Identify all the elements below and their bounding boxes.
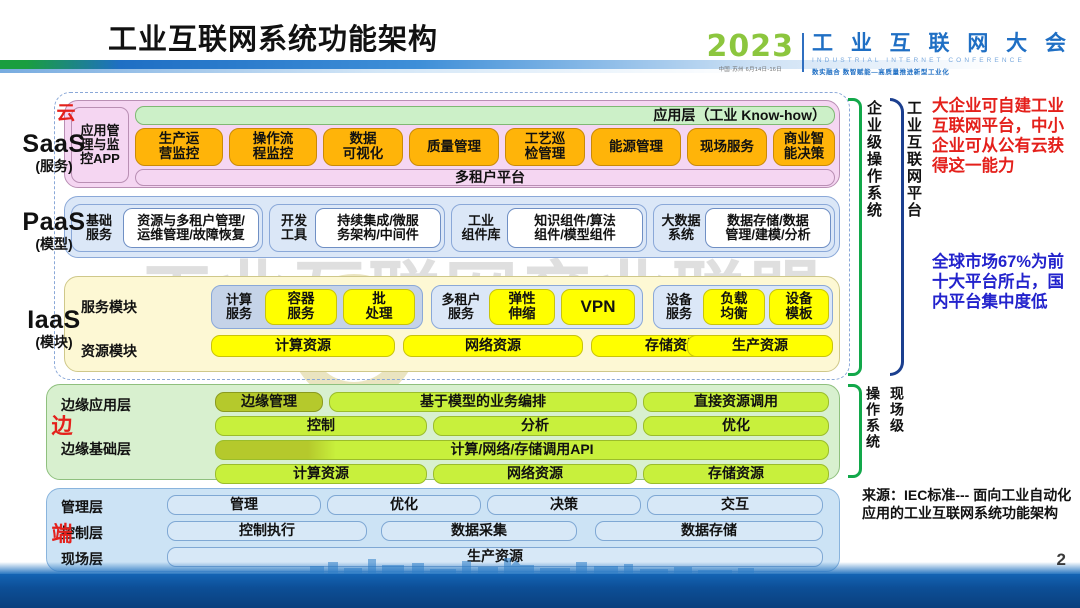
saas-app-0[interactable]: 生产运 营监控 bbox=[135, 128, 223, 166]
edge-app-2[interactable]: 直接资源调用 bbox=[643, 392, 829, 412]
left-label-iaas: IaaS bbox=[14, 306, 94, 335]
iaas-group-0-tag: 计算 服务 bbox=[215, 289, 263, 325]
left-label-paas-sub: (模型) bbox=[14, 234, 94, 254]
logo-divider bbox=[802, 33, 804, 72]
left-label-cloud: 云 bbox=[40, 98, 92, 125]
note-blue: 全球市场67%为前十大平台所占，国内平台集中度低 bbox=[932, 252, 1072, 312]
bracket-label-enterprise-os: 企业级操作系统 bbox=[866, 100, 881, 372]
left-label-paas: PaaS bbox=[14, 208, 94, 237]
header-rule-secondary bbox=[0, 69, 760, 73]
logo-year-subtitle: 中国·苏州 6月14日-16日 bbox=[706, 65, 794, 73]
paas-group-3-tag: 大数据 系统 bbox=[657, 208, 705, 248]
saas-app-4[interactable]: 工艺巡 检管理 bbox=[505, 128, 585, 166]
iiot-platform-bracket bbox=[890, 98, 904, 376]
bracket-label-field-os-2: 现场级 bbox=[890, 386, 904, 476]
edge-res-0[interactable]: 计算资源 bbox=[215, 464, 427, 484]
paas-group-3-body[interactable]: 数据存储/数据 管理/建模/分析 bbox=[705, 208, 831, 248]
note-source: 来源：IEC标准--- 面向工业自动化应用的工业互联网系统功能架构 bbox=[862, 486, 1076, 522]
saas-app-1[interactable]: 操作流 程监控 bbox=[229, 128, 317, 166]
end-row-0-item-3[interactable]: 交互 bbox=[647, 495, 823, 515]
iaas-group-1-chip-1[interactable]: VPN bbox=[561, 289, 635, 325]
end-row-0-item-1[interactable]: 优化 bbox=[327, 495, 481, 515]
bracket-label-iiot-platform: 工业互联网平台 bbox=[906, 100, 921, 372]
left-label-saas: SaaS bbox=[14, 130, 94, 159]
field-os-bracket bbox=[848, 384, 862, 478]
iaas-group-0-chip-0[interactable]: 容器 服务 bbox=[265, 289, 337, 325]
edge-base-row-label: 边缘基础层 bbox=[61, 439, 131, 459]
end-row-1-item-1[interactable]: 数据采集 bbox=[381, 521, 577, 541]
edge-res-2[interactable]: 存储资源 bbox=[643, 464, 829, 484]
iaas-group-2-chip-1[interactable]: 设备 模板 bbox=[769, 289, 829, 325]
edge-mid-2[interactable]: 优化 bbox=[643, 416, 829, 436]
paas-group-1-tag: 开发 工具 bbox=[273, 208, 315, 248]
saas-app-2[interactable]: 数据 可视化 bbox=[323, 128, 403, 166]
saas-app-3[interactable]: 质量管理 bbox=[409, 128, 499, 166]
saas-app-layer-bar: 应用层（工业 Know-how） bbox=[135, 106, 835, 125]
end-row-0-label: 管理层 bbox=[61, 497, 103, 517]
iaas-band: 服务模块 资源模块 计算 服务 容器 服务 批 处理 多租户 服务 弹性 伸缩 … bbox=[64, 276, 840, 372]
footer-band bbox=[0, 574, 1080, 608]
iaas-group-2-tag: 设备 服务 bbox=[657, 289, 701, 325]
logo-chinese-name: 工 业 互 联 网 大 会 bbox=[812, 33, 1072, 55]
iaas-resource-0[interactable]: 计算资源 bbox=[211, 335, 395, 357]
edge-mid-1[interactable]: 分析 bbox=[433, 416, 637, 436]
iaas-group-1-tag: 多租户 服务 bbox=[435, 289, 487, 325]
logo-tagline: 数实融合 数智赋能—高质量推进新型工业化 bbox=[812, 66, 1072, 76]
edge-app-1[interactable]: 基于模型的业务编排 bbox=[329, 392, 637, 412]
paas-group-2-tag: 工业 组件库 bbox=[455, 208, 507, 248]
end-row-0-item-2[interactable]: 决策 bbox=[487, 495, 641, 515]
left-label-iaas-sub: (模块) bbox=[14, 332, 94, 352]
paas-group-2-body[interactable]: 知识组件/算法 组件/模型组件 bbox=[507, 208, 643, 248]
iaas-group-1-chip-0[interactable]: 弹性 伸缩 bbox=[489, 289, 555, 325]
left-label-saas-sub: (服务) bbox=[14, 156, 94, 176]
bracket-label-field-os-1: 操作系统 bbox=[866, 386, 880, 476]
conference-logo: 2023 中国·苏州 6月14日-16日 工 业 互 联 网 大 会 INDUS… bbox=[706, 32, 1072, 76]
edge-api-bar[interactable]: 计算/网络/存储调用API bbox=[215, 440, 829, 460]
end-row-1-item-0[interactable]: 控制执行 bbox=[167, 521, 367, 541]
page-header: 工业互联网系统功能架构 2023 中国·苏州 6月14日-16日 工 业 互 联… bbox=[0, 0, 1080, 86]
page-footer bbox=[0, 562, 1080, 608]
page-title: 工业互联网系统功能架构 bbox=[108, 16, 438, 58]
left-label-edge: 边 bbox=[36, 410, 88, 440]
logo-year-block: 2023 中国·苏州 6月14日-16日 bbox=[706, 32, 802, 73]
note-red: 大企业可自建工业互联网平台，中小企业可从公有云获得这一能力 bbox=[932, 96, 1072, 177]
saas-app-5[interactable]: 能源管理 bbox=[591, 128, 681, 166]
paas-group-1-body[interactable]: 持续集成/微服 务架构/中间件 bbox=[315, 208, 441, 248]
iaas-resource-1[interactable]: 网络资源 bbox=[403, 335, 583, 357]
end-row-0-item-0[interactable]: 管理 bbox=[167, 495, 321, 515]
paas-band: 基础 服务 资源与多租户管理/ 运维管理/故障恢复 开发 工具 持续集成/微服 … bbox=[64, 196, 840, 258]
saas-app-6[interactable]: 现场服务 bbox=[687, 128, 767, 166]
page-number: 2 bbox=[1057, 550, 1066, 570]
edge-band: 边缘应用层 边缘基础层 边缘管理 基于模型的业务编排 直接资源调用 控制 分析 … bbox=[46, 384, 840, 480]
edge-mid-0[interactable]: 控制 bbox=[215, 416, 427, 436]
iaas-group-2-chip-0[interactable]: 负载 均衡 bbox=[703, 289, 765, 325]
architecture-diagram: 云 SaaS (服务) PaaS (模型) IaaS (模块) 边 端 应用管 … bbox=[0, 86, 1080, 556]
logo-text-block: 工 业 互 联 网 大 会 INDUSTRIAL INTERNET CONFER… bbox=[812, 32, 1072, 76]
saas-app-7[interactable]: 商业智 能决策 bbox=[773, 128, 835, 166]
edge-res-1[interactable]: 网络资源 bbox=[433, 464, 637, 484]
saas-band: 应用管 理与监 控APP 应用层（工业 Know-how） 生产运 营监控 操作… bbox=[64, 100, 840, 188]
saas-multitenant-bar: 多租户平台 bbox=[135, 169, 835, 186]
paas-group-0-body[interactable]: 资源与多租户管理/ 运维管理/故障恢复 bbox=[123, 208, 259, 248]
edge-app-0[interactable]: 边缘管理 bbox=[215, 392, 323, 412]
logo-english-name: INDUSTRIAL INTERNET CONFERENCE bbox=[812, 57, 1072, 64]
enterprise-os-bracket bbox=[848, 98, 862, 376]
iaas-group-0-chip-1[interactable]: 批 处理 bbox=[343, 289, 415, 325]
iaas-resource-3[interactable]: 生产资源 bbox=[687, 335, 833, 357]
end-row-1-item-2[interactable]: 数据存储 bbox=[595, 521, 823, 541]
logo-year: 2023 bbox=[706, 32, 794, 62]
left-label-end: 端 bbox=[36, 518, 88, 548]
